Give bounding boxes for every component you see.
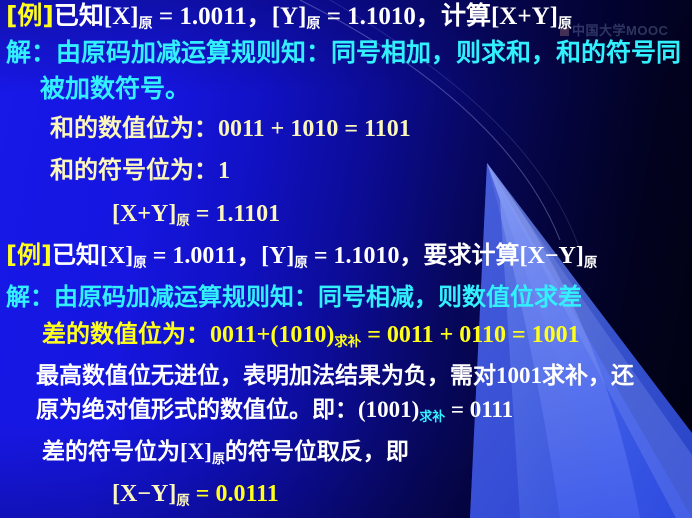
text-run: = 1.1010， <box>320 3 441 30</box>
text-run: 求补，还 <box>542 363 634 389</box>
text-run: 最高数值位无进位，表明加法结果为负，需对 <box>36 363 496 389</box>
text-run: 的符号位取反，即 <box>225 439 409 465</box>
text-run: 差的符号位为 <box>42 439 180 465</box>
text-line-example-2-statement: [例]已知[X]原 = 1.0011，[Y]原 = 1.1010，要求计算[X−… <box>6 243 597 268</box>
text-run: [X] <box>104 3 139 30</box>
text-line-example-1-solution-1: 解：由原码加减运算规则知：同号相加，则求和，和的符号同 <box>6 40 681 66</box>
text-run: 0011+(1010) <box>210 322 334 348</box>
text-run: 0011 + 1010 = 1101 <box>218 116 411 142</box>
subscript-text: 原 <box>584 256 597 271</box>
text-run: 和的数值位为： <box>50 114 218 142</box>
text-run: 1 <box>218 158 230 184</box>
slide-canvas: 中国大学MOOC [例]已知[X]原 = 1.0011，[Y]原 = 1.101… <box>0 0 692 518</box>
text-run: 计算 <box>441 1 491 30</box>
text-run: 已知 <box>54 1 104 30</box>
text-line-example-1-sign-bit: 和的符号位为：1 <box>50 158 230 183</box>
text-run: = 0011 + 0110 = 1001 <box>361 322 579 348</box>
subscript-text: 原 <box>294 256 307 271</box>
text-run: = 1.0011， <box>153 3 272 30</box>
subscript-text: 原 <box>306 16 320 32</box>
text-line-example-1-magnitude: 和的数值位为：0011 + 1010 = 1101 <box>50 116 411 141</box>
text-line-example-1-result: [X+Y]原 = 1.1101 <box>112 202 280 226</box>
subscript-text: 求补 <box>419 410 445 425</box>
text-run: [例] <box>6 1 54 30</box>
text-line-example-2-magnitude: 差的数值位为：0011+(1010)求补 = 0011 + 0110 = 100… <box>42 322 580 347</box>
text-run: [X] <box>180 439 212 464</box>
text-run: = 0111 <box>445 397 513 422</box>
text-run: 原为绝对值形式的数值位。即： <box>36 397 358 423</box>
text-line-example-2-sign-bit: 差的符号位为[X]原的符号位取反，即 <box>42 440 409 464</box>
text-line-example-2-explain-1: 最高数值位无进位，表明加法结果为负，需对1001求补，还 <box>36 364 634 388</box>
subscript-text: 求补 <box>334 335 361 350</box>
text-run: 差的数值位为： <box>42 320 210 348</box>
text-line-example-2-explain-2: 原为绝对值形式的数值位。即：(1001)求补 = 0111 <box>36 398 513 422</box>
text-run: [X+Y] <box>112 201 176 227</box>
text-run: [Y] <box>261 243 294 269</box>
text-run: [Y] <box>272 3 307 30</box>
text-run: [例] <box>6 241 52 269</box>
text-run: 已知 <box>52 241 100 269</box>
text-run: = 1.1101 <box>190 201 280 227</box>
text-run: [X] <box>100 243 133 269</box>
text-run: = 1.1010， <box>308 243 424 269</box>
text-run: 解：由原码加减运算规则知：同号相减，则数值位求差 <box>6 283 582 311</box>
text-run: 要求计算 <box>424 241 520 269</box>
text-run: 和的符号位为： <box>50 156 218 184</box>
text-run: = 0.0111 <box>190 481 279 507</box>
text-run: 1001 <box>496 363 542 388</box>
subscript-text: 原 <box>176 494 189 509</box>
text-line-example-2-result: [X−Y]原 = 0.0111 <box>112 482 279 506</box>
subscript-text: 原 <box>139 16 153 32</box>
text-run: (1001) <box>358 397 419 422</box>
text-run: [X+Y] <box>491 3 558 30</box>
text-run: 解：由原码加减运算规则知：同号相加，则求和，和的符号同 <box>6 38 681 67</box>
subscript-text: 原 <box>212 452 225 467</box>
text-run: [X−Y] <box>112 481 176 507</box>
text-run: [X−Y] <box>520 243 584 269</box>
text-line-example-1-solution-2: 被加数符号。 <box>40 76 190 102</box>
subscript-text: 原 <box>133 256 146 271</box>
subscript-text: 原 <box>558 16 572 32</box>
text-run: 被加数符号。 <box>40 74 190 103</box>
subscript-text: 原 <box>176 214 189 229</box>
text-line-example-2-solution-1: 解：由原码加减运算规则知：同号相减，则数值位求差 <box>6 285 582 310</box>
text-run: = 1.0011， <box>147 243 261 269</box>
text-line-example-1-statement: [例]已知[X]原 = 1.0011，[Y]原 = 1.1010，计算[X+Y]… <box>6 3 572 29</box>
